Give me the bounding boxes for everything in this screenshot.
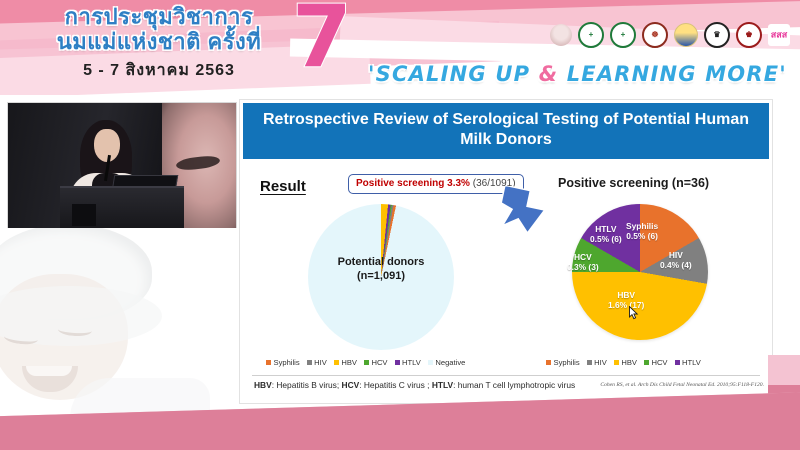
- legend-label-hcv: HCV: [371, 358, 387, 367]
- legend-label-hbv: HBV: [621, 358, 637, 367]
- callout-highlight: Positive screening 3.3%: [356, 178, 470, 189]
- legend-item-htlv: HTLV: [395, 358, 421, 367]
- legend-label-hcv: HCV: [651, 358, 667, 367]
- logo-glyph: สสส: [771, 31, 787, 40]
- logo-glyph: ♛: [713, 31, 720, 39]
- pie-slice-label-hcv: HCV 0.3% (3): [567, 252, 599, 272]
- logo-glyph: ♚: [745, 31, 752, 39]
- legend-label-htlv: HTLV: [402, 358, 421, 367]
- blue-arrow-icon: [496, 186, 554, 236]
- presentation-screen: การประชุมวิชาการ นมแม่แห่งชาติ ครั้งที่ …: [0, 0, 800, 450]
- logo-glyph: ☸: [651, 31, 658, 39]
- logo-glyph: +: [621, 31, 626, 39]
- legend-swatch-htlv: [675, 360, 680, 365]
- conference-edition-number: 7: [292, 0, 352, 80]
- podium-front-panel: [72, 204, 96, 226]
- logo-green-health-1-icon: +: [578, 22, 604, 48]
- footnote-text-hcv: : Hepatitis C virus ;: [359, 380, 432, 390]
- baby-photo-watermark: [0, 228, 240, 424]
- footnote-divider: [252, 375, 760, 376]
- source-citation: Cohen RS, et al. Arch Dis Child Fetal Ne…: [600, 382, 764, 388]
- positive-screening-pie-title: Positive screening (n=36): [558, 176, 709, 190]
- legend-label-hiv: HIV: [594, 358, 607, 367]
- legend-item-htlv: HTLV: [675, 358, 701, 367]
- logo-red-crest-icon: ♚: [736, 22, 762, 48]
- tagline-ampersand: &: [539, 62, 559, 86]
- pie-slice-name-syphilis: Syphilis: [626, 221, 658, 231]
- slide-title: Retrospective Review of Serological Test…: [243, 103, 769, 159]
- legend-item-hcv: HCV: [364, 358, 388, 367]
- result-heading: Result: [260, 178, 306, 195]
- legend-label-htlv: HTLV: [682, 358, 701, 367]
- logo-black-circle-icon: ♛: [704, 22, 730, 48]
- footnote-key-hcv: HCV: [342, 380, 360, 390]
- conference-title-line-2: นมแม่แห่งชาติ ครั้งที่: [24, 29, 294, 54]
- tagline-part-2: LEARNING MORE': [558, 62, 787, 86]
- legend-item-negative: Negative: [428, 358, 465, 367]
- pie-slice-value-syphilis: 0.5% (6): [626, 231, 658, 241]
- legend-swatch-hbv: [614, 360, 619, 365]
- logo-university-gold-icon: [674, 23, 698, 47]
- conference-banner: การประชุมวิชาการ นมแม่แห่งชาติ ครั้งที่ …: [0, 0, 800, 95]
- pie-slice-value-hcv: 0.3% (3): [567, 262, 599, 272]
- legend-item-hbv: HBV: [334, 358, 357, 367]
- conference-title-thai: การประชุมวิชาการ นมแม่แห่งชาติ ครั้งที่: [24, 4, 294, 54]
- legend-item-hcv: HCV: [644, 358, 668, 367]
- legend-swatch-hiv: [307, 360, 312, 365]
- footnote-text-htlv: : human T cell lymphotropic virus: [453, 380, 575, 390]
- slide-content: Retrospective Review of Serological Test…: [240, 100, 772, 403]
- potential-donors-count: (n=1,091): [308, 269, 454, 283]
- legend-swatch-syphilis: [546, 360, 551, 365]
- logo-green-health-2-icon: +: [610, 22, 636, 48]
- legend-positive-screening: Syphilis HIV HBV HCV HTLV: [546, 358, 701, 367]
- pie-slice-label-htlv: HTLV 0.5% (6): [590, 224, 622, 244]
- footnote-key-hbv: HBV: [254, 380, 272, 390]
- logo-sss-icon: สสส: [768, 24, 790, 46]
- pie-slice-label-syphilis: Syphilis 0.5% (6): [626, 221, 658, 241]
- legend-label-syphilis: Syphilis: [554, 358, 580, 367]
- legend-label-negative: Negative: [435, 358, 465, 367]
- legend-label-syphilis: Syphilis: [274, 358, 300, 367]
- legend-swatch-hcv: [364, 360, 369, 365]
- speaker-video-thumbnail[interactable]: [8, 103, 236, 228]
- legend-swatch-syphilis: [266, 360, 271, 365]
- legend-swatch-hcv: [644, 360, 649, 365]
- legend-swatch-htlv: [395, 360, 400, 365]
- pie-slice-name-hiv: HIV: [660, 250, 692, 260]
- legend-potential-donors: Syphilis HIV HBV HCV HTLV Negative: [266, 358, 465, 367]
- legend-swatch-hbv: [334, 360, 339, 365]
- legend-swatch-hiv: [587, 360, 592, 365]
- conference-title-line-1: การประชุมวิชาการ: [24, 4, 294, 29]
- legend-label-hiv: HIV: [314, 358, 327, 367]
- legend-item-hbv: HBV: [614, 358, 637, 367]
- legend-label-hbv: HBV: [341, 358, 357, 367]
- legend-swatch-negative: [428, 360, 433, 365]
- sponsor-logo-row: + + ☸ ♛ ♚ สสส: [550, 22, 790, 48]
- abbreviation-footnote: HBV: Hepatitis B virus; HCV: Hepatitis C…: [254, 380, 575, 390]
- mouse-cursor-icon: [629, 306, 639, 320]
- pie-slice-name-htlv: HTLV: [590, 224, 622, 234]
- conference-date: 5 - 7 สิงหาคม 2563: [24, 58, 294, 83]
- footnote-text-hbv: : Hepatitis B virus;: [272, 380, 342, 390]
- logo-thai-seal-icon: [550, 24, 572, 46]
- legend-item-syphilis: Syphilis: [546, 358, 580, 367]
- logo-royal-red-icon: ☸: [642, 22, 668, 48]
- potential-donors-title: Potential donors: [308, 255, 454, 269]
- pie-slice-label-hiv: HIV 0.4% (4): [660, 250, 692, 270]
- footnote-key-htlv: HTLV: [432, 380, 453, 390]
- pie-slice-value-htlv: 0.5% (6): [590, 234, 622, 244]
- conference-tagline: 'SCALING UP & LEARNING MORE': [368, 62, 787, 86]
- logo-glyph: +: [589, 31, 594, 39]
- legend-item-hiv: HIV: [307, 358, 327, 367]
- pie-slice-name-hbv: HBV: [608, 290, 644, 300]
- pie-slice-name-hcv: HCV: [567, 252, 599, 262]
- potential-donors-pie-label: Potential donors (n=1,091): [308, 255, 454, 283]
- legend-item-hiv: HIV: [587, 358, 607, 367]
- baby-photo-fade-overlay: [0, 228, 240, 424]
- legend-item-syphilis: Syphilis: [266, 358, 300, 367]
- pie-slice-value-hiv: 0.4% (4): [660, 260, 692, 270]
- tagline-part-1: 'SCALING UP: [368, 62, 539, 86]
